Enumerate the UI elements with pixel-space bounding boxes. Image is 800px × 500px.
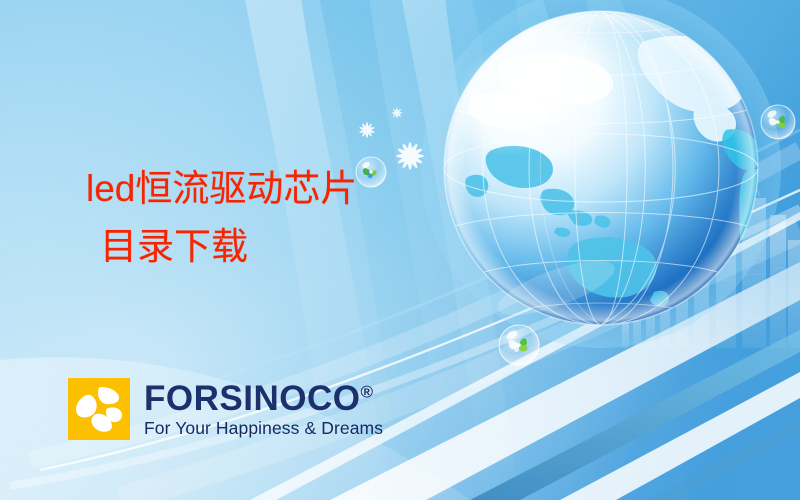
bubble-lower-center: [499, 325, 539, 365]
registered-trademark-symbol: ®: [360, 382, 373, 401]
forsinoco-logo-mark: [68, 378, 130, 440]
pinwheel-petals-icon: [68, 378, 130, 440]
brand-name: FORSINOCO®: [144, 381, 383, 417]
logo-lockup: FORSINOCO® For Your Happiness & Dreams: [68, 378, 383, 440]
brand-name-text: FORSINOCO: [144, 379, 360, 418]
headline-line-1: led恒流驱动芯片: [86, 168, 357, 209]
slide-canvas: led恒流驱动芯片 目录下载 FORSINOCO® For Your Happi…: [0, 0, 800, 500]
sparkle-tiny: [392, 108, 403, 119]
headline-line-2: 目录下载: [86, 218, 506, 276]
headline-text: led恒流驱动芯片 目录下载: [86, 160, 506, 276]
brand-tagline: For Your Happiness & Dreams: [144, 418, 383, 438]
logo-wordmark: FORSINOCO® For Your Happiness & Dreams: [144, 381, 383, 438]
bubble-top-right: [761, 105, 795, 139]
